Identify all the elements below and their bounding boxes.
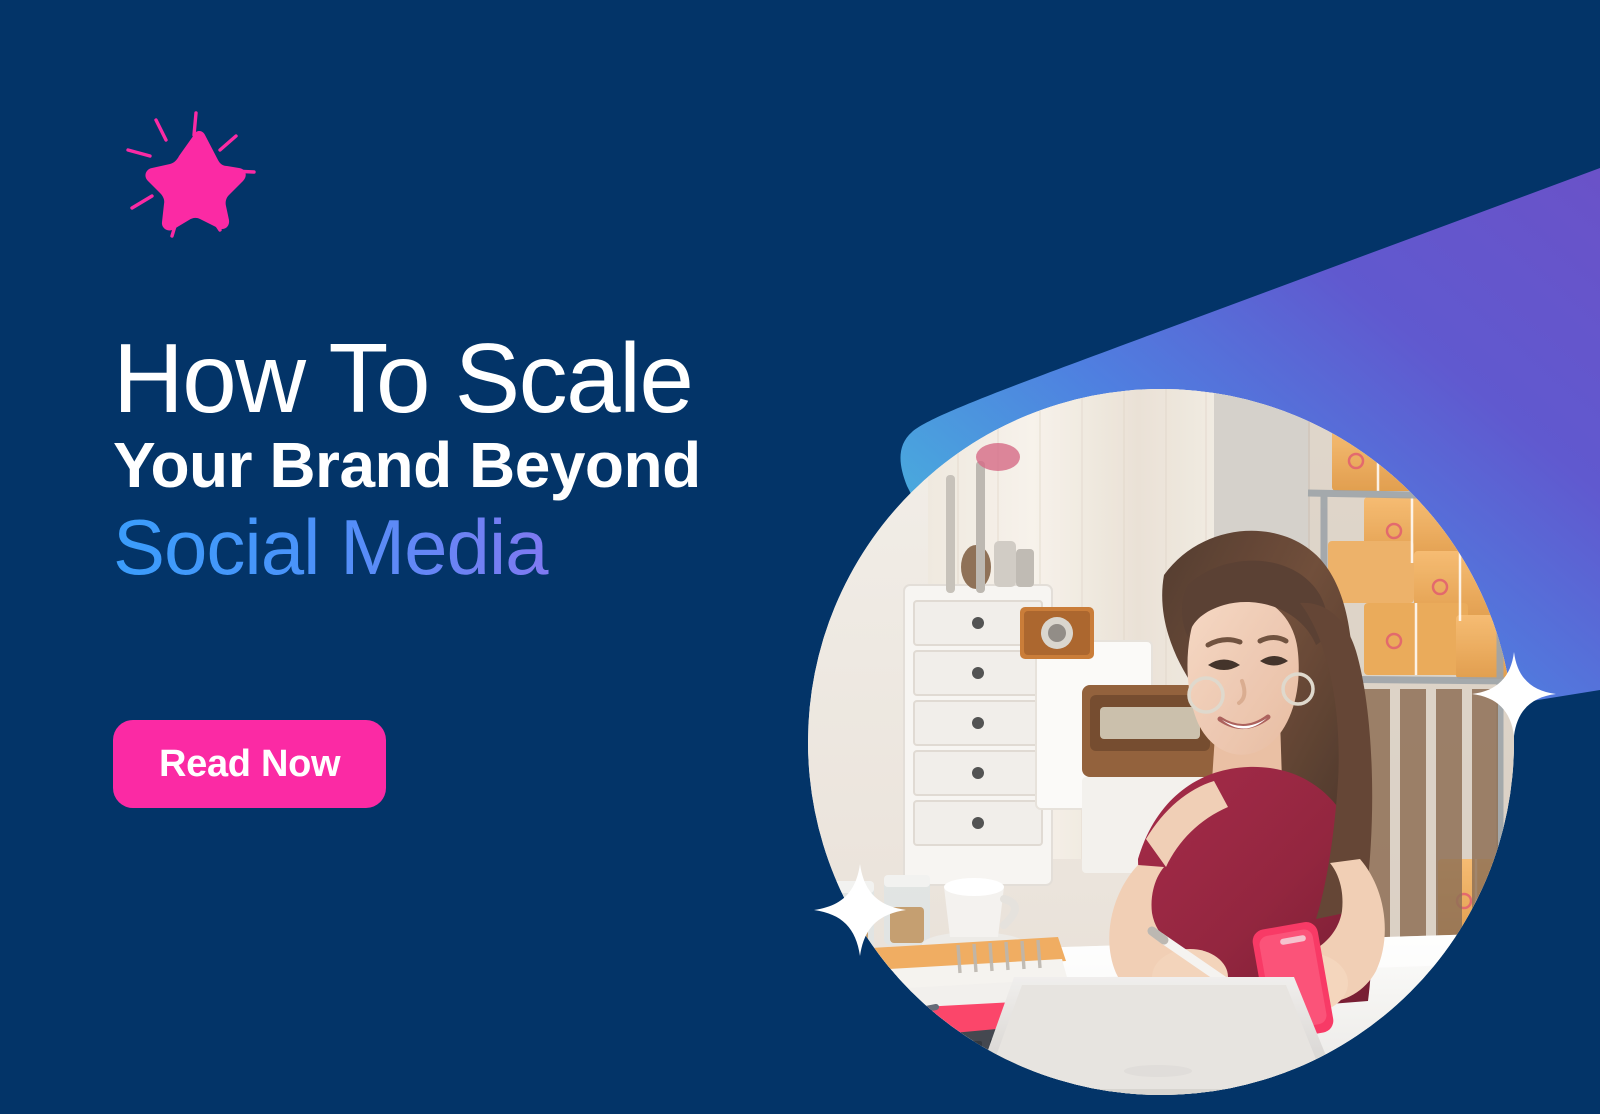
headline-block: How To Scale Your Brand Beyond Social Me…: [113, 330, 853, 591]
sparkle-decoration-right: [1470, 650, 1558, 738]
headline-line-3-gradient: Social Media: [113, 504, 853, 591]
sparkle-decoration-left: [812, 862, 908, 958]
headline-line-2: Your Brand Beyond: [113, 426, 853, 504]
read-now-button[interactable]: Read Now: [113, 720, 386, 808]
hero-photo-circle: [808, 389, 1514, 1095]
sparkle-star-icon: [104, 108, 274, 248]
headline-line-1: How To Scale: [113, 330, 853, 426]
marketing-banner: How To Scale Your Brand Beyond Social Me…: [0, 0, 1600, 1114]
